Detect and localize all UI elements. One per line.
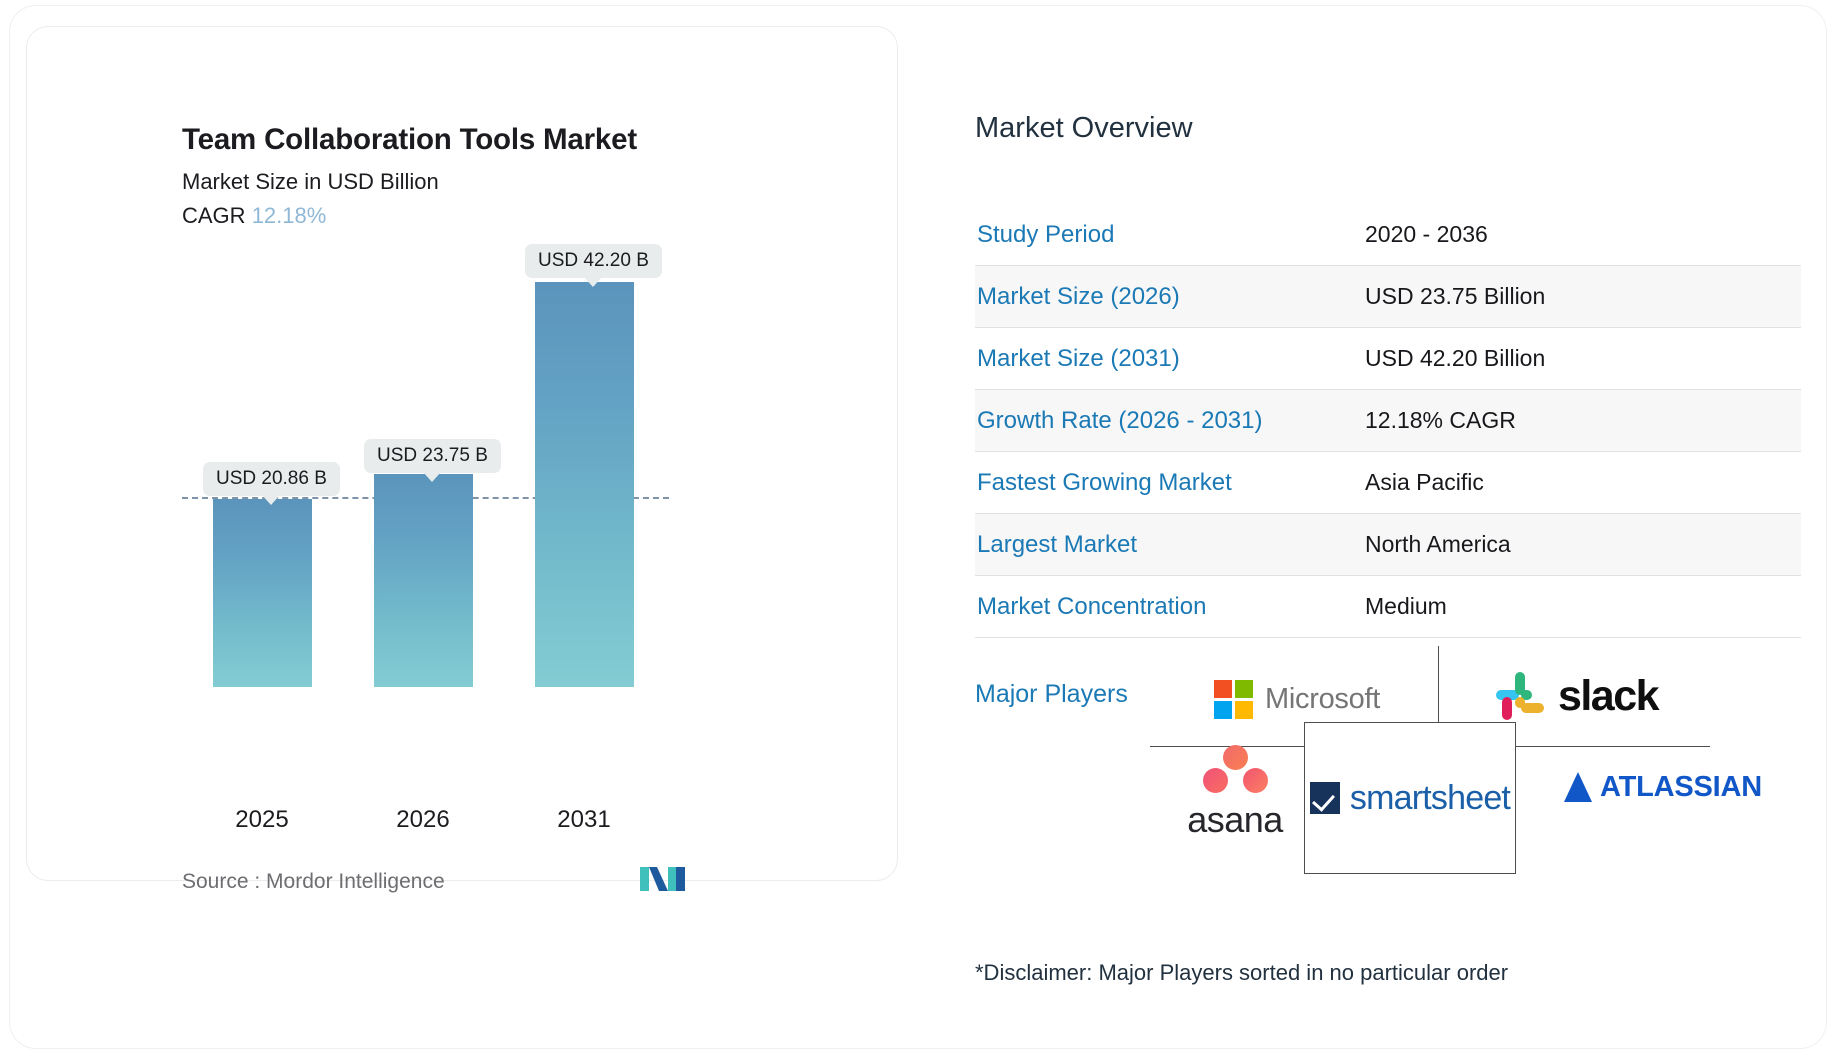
table-row: Market Size (2026) USD 23.75 Billion (975, 266, 1801, 328)
microsoft-wordmark: Microsoft (1265, 683, 1380, 716)
x-axis-label-2025: 2025 (202, 806, 322, 834)
bar-2026[interactable] (374, 474, 473, 687)
table-row: Study Period 2020 - 2036 (975, 204, 1801, 266)
mordor-intelligence-logo (640, 863, 688, 900)
bar-2031[interactable] (535, 282, 634, 687)
row-value: Asia Pacific (1365, 469, 1484, 496)
major-players-title: Major Players (975, 680, 1128, 709)
row-label: Market Size (2026) (975, 283, 1365, 311)
atlassian-logo-icon (1564, 772, 1592, 802)
row-label: Largest Market (975, 531, 1365, 559)
player-logo-asana: asana (1164, 750, 1306, 836)
table-row: Market Concentration Medium (975, 576, 1801, 638)
row-value: 12.18% CAGR (1365, 407, 1516, 434)
smartsheet-wordmark: smartsheet (1350, 779, 1510, 818)
player-logo-smartsheet: smartsheet (1304, 722, 1516, 874)
atlassian-wordmark: ATLASSIAN (1600, 771, 1762, 804)
bar-value-tooltip-2025: USD 20.86 B (203, 462, 340, 496)
table-row: Growth Rate (2026 - 2031) 12.18% CAGR (975, 390, 1801, 452)
asana-wordmark: asana (1187, 799, 1283, 841)
market-overview-panel: Market Overview Study Period 2020 - 2036… (975, 26, 1805, 1026)
market-size-chart-card: Team Collaboration Tools Market Market S… (26, 26, 898, 881)
players-disclaimer: *Disclaimer: Major Players sorted in no … (975, 960, 1508, 986)
table-row: Fastest Growing Market Asia Pacific (975, 452, 1801, 514)
smartsheet-checkmark-icon (1310, 782, 1340, 814)
row-value: North America (1365, 531, 1511, 558)
infographic-page: Team Collaboration Tools Market Market S… (0, 0, 1836, 1054)
x-axis-label-2026: 2026 (363, 806, 483, 834)
bar-chart-plot: USD 20.86 B USD 23.75 B USD 42.20 B 2025… (27, 27, 899, 882)
slack-logo-icon (1494, 670, 1546, 722)
table-row: Largest Market North America (975, 514, 1801, 576)
major-players-logo-grid: Microsoft slack (1150, 646, 1710, 841)
slack-wordmark: slack (1558, 672, 1658, 721)
bar-2025[interactable] (213, 499, 312, 687)
row-value: 2020 - 2036 (1365, 221, 1488, 248)
asana-logo-icon (1199, 745, 1271, 793)
row-label: Study Period (975, 221, 1365, 249)
row-value: USD 23.75 Billion (1365, 283, 1545, 310)
table-row: Market Size (2031) USD 42.20 Billion (975, 328, 1801, 390)
bar-value-tooltip-2026: USD 23.75 B (364, 439, 501, 473)
row-label: Growth Rate (2026 - 2031) (975, 407, 1365, 435)
row-value: USD 42.20 Billion (1365, 345, 1545, 372)
source-row: Source : Mordor Intelligence (182, 863, 712, 900)
player-logo-atlassian: ATLASSIAN (1568, 756, 1758, 818)
microsoft-logo-icon (1214, 680, 1253, 719)
overview-table: Study Period 2020 - 2036 Market Size (20… (975, 204, 1801, 638)
row-label: Market Concentration (975, 593, 1365, 621)
x-axis-label-2031: 2031 (524, 806, 644, 834)
overview-title: Market Overview (975, 112, 1193, 145)
bar-value-tooltip-2031: USD 42.20 B (525, 244, 662, 278)
row-label: Fastest Growing Market (975, 469, 1365, 497)
row-label: Market Size (2031) (975, 345, 1365, 373)
source-label: Source : Mordor Intelligence (182, 870, 445, 894)
row-value: Medium (1365, 593, 1447, 620)
